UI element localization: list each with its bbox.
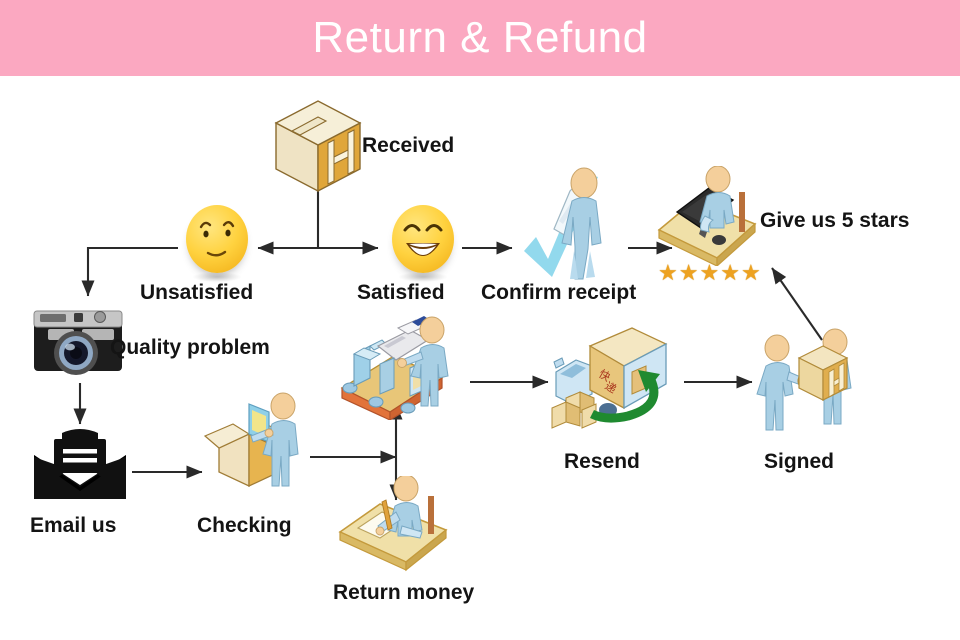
label-resend: Resend [564, 450, 640, 474]
node-received[interactable] [268, 95, 368, 200]
node-signed[interactable] [743, 328, 873, 453]
two-people-package-icon [743, 328, 873, 448]
cardboard-box-icon [268, 95, 368, 195]
label-received: Received [362, 134, 454, 158]
node-checking[interactable] [203, 386, 315, 509]
label-email-us: Email us [30, 514, 116, 538]
page-title: Return & Refund [312, 13, 647, 63]
label-unsatisfied: Unsatisfied [140, 281, 253, 305]
return-refund-infographic: Return & Refund [0, 0, 960, 640]
label-checking: Checking [197, 514, 292, 538]
node-give-us-5-stars[interactable] [655, 166, 765, 271]
satisfied-face-icon [392, 205, 454, 273]
label-give-us-5-stars: Give us 5 stars [760, 209, 909, 233]
page-header: Return & Refund [0, 0, 960, 76]
star-icon: ★ [658, 262, 678, 284]
node-resend[interactable]: 快 递 [546, 326, 684, 443]
delivery-truck-icon: 快 递 [546, 326, 684, 438]
node-email-us[interactable] [30, 425, 130, 510]
person-at-conveyor-icon [336, 316, 470, 420]
checkmark-person-icon [512, 163, 628, 281]
star-icon: ★ [741, 262, 761, 284]
person-at-computer-icon [655, 166, 765, 266]
node-return-money[interactable] [336, 476, 460, 581]
star-rating: ★ ★ ★ ★ ★ [658, 262, 761, 284]
node-confirm-receipt[interactable] [512, 163, 628, 286]
flow-arrows [0, 0, 960, 640]
label-confirm-receipt: Confirm receipt [481, 281, 636, 305]
star-icon: ★ [699, 262, 719, 284]
star-icon: ★ [720, 262, 740, 284]
person-inspecting-box-icon [203, 386, 315, 504]
label-satisfied: Satisfied [357, 281, 445, 305]
node-processing[interactable] [336, 316, 470, 425]
person-writing-at-desk-icon [336, 476, 460, 576]
star-icon: ★ [679, 262, 699, 284]
label-signed: Signed [764, 450, 834, 474]
label-return-money: Return money [333, 581, 474, 605]
label-quality-problem: Quality problem [110, 336, 270, 360]
envelope-icon [30, 425, 130, 505]
unsatisfied-face-icon [186, 205, 248, 273]
